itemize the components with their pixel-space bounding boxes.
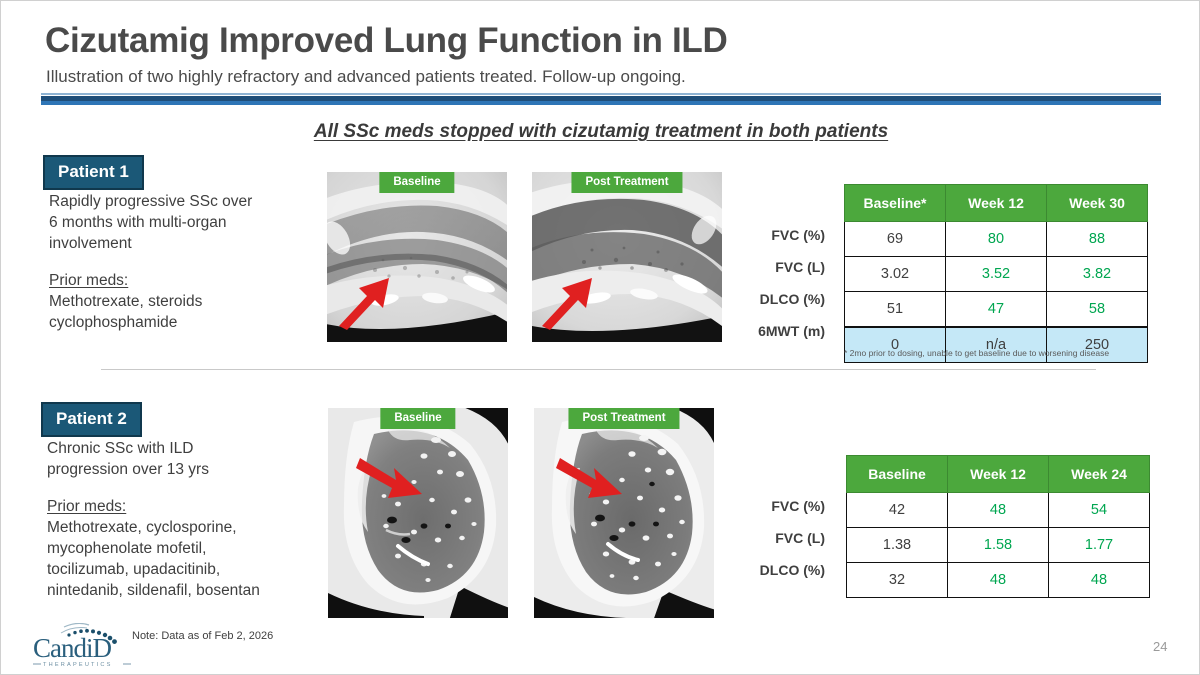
cell-dlco-baseline: 32: [847, 563, 948, 598]
cell-fvc-pct-week30: 88: [1047, 222, 1148, 257]
table-row: 51 47 58: [845, 292, 1148, 328]
col-header-week-24: Week 24: [1049, 456, 1150, 493]
patient-1-desc-line-2: 6 months with multi-organ: [49, 212, 319, 233]
page-number: 24: [1153, 639, 1167, 654]
cell-fvc-l-week30: 3.82: [1047, 257, 1148, 292]
col-header-week-12: Week 12: [948, 456, 1049, 493]
patient-1-row-labels: FVC (%) FVC (L) DLCO (%) 6MWT (m): [741, 219, 825, 347]
patient-2-prior-meds-line-1: Methotrexate, cyclosporine,: [47, 517, 317, 538]
svg-text:THERAPEUTICS: THERAPEUTICS: [43, 662, 113, 668]
spacer: [49, 254, 319, 270]
cell-dlco-week12: 48: [948, 563, 1049, 598]
patient-2-prior-meds-line-2: mycophenolate mofetil,: [47, 538, 317, 559]
col-header-baseline: Baseline: [847, 456, 948, 493]
accent-line-light: [41, 93, 1161, 95]
row-label-fvc-pct: FVC (%): [741, 490, 825, 522]
cell-fvc-l-week12: 1.58: [948, 528, 1049, 563]
patient-1-badge: Patient 1: [43, 155, 144, 190]
patient-2-desc-line-1: Chronic SSc with ILD: [47, 438, 317, 459]
row-label-fvc-pct: FVC (%): [741, 219, 825, 251]
cell-dlco-week24: 48: [1049, 563, 1150, 598]
cell-fvc-l-week24: 1.77: [1049, 528, 1150, 563]
svg-text:CandiD: CandiD: [33, 633, 111, 663]
ct-image: [534, 408, 714, 618]
scan-label-post-treatment: Post Treatment: [571, 172, 682, 193]
cell-fvc-pct-baseline: 69: [845, 222, 946, 257]
cell-dlco-week30: 58: [1047, 292, 1148, 328]
results-table: Baseline Week 12 Week 24 42 48 54 1.38 1…: [846, 455, 1150, 598]
patient-1-results-table: Baseline* Week 12 Week 30 69 80 88 3.02 …: [844, 184, 1148, 363]
col-header-week-30: Week 30: [1047, 185, 1148, 222]
scan-label-post-treatment: Post Treatment: [568, 408, 679, 429]
patient-1-footnote: * 2mo prior to dosing, unable to get bas…: [844, 348, 1109, 358]
accent-line-mid: [41, 101, 1161, 105]
data-note: Note: Data as of Feb 2, 2026: [132, 630, 273, 642]
cell-fvc-l-baseline: 3.02: [845, 257, 946, 292]
page-title: Cizutamig Improved Lung Function in ILD: [45, 21, 727, 61]
table-row: 1.38 1.58 1.77: [847, 528, 1150, 563]
cell-fvc-l-week12: 3.52: [946, 257, 1047, 292]
patient-2-desc-line-2: progression over 13 yrs: [47, 459, 317, 480]
patient-1-desc-line-3: involvement: [49, 233, 319, 254]
table-row: 42 48 54: [847, 493, 1150, 528]
patient-1-desc-line-1: Rapidly progressive SSc over: [49, 191, 319, 212]
cell-fvc-pct-week12: 48: [948, 493, 1049, 528]
row-label-dlco-pct: DLCO (%): [741, 554, 825, 586]
col-header-week-12: Week 12: [946, 185, 1047, 222]
spacer: [47, 480, 317, 496]
cell-fvc-pct-baseline: 42: [847, 493, 948, 528]
row-label-6mwt-m: 6MWT (m): [741, 315, 825, 347]
patient-1-ct-scan-baseline: Baseline: [327, 172, 507, 342]
row-label-fvc-l: FVC (L): [741, 522, 825, 554]
patient-2-row-labels: FVC (%) FVC (L) DLCO (%): [741, 490, 825, 586]
annotation-arrow-icon: [333, 270, 405, 337]
patient-2-results-table: Baseline Week 12 Week 24 42 48 54 1.38 1…: [846, 455, 1150, 598]
patient-2-badge: Patient 2: [41, 402, 142, 437]
annotation-arrow-icon: [536, 270, 608, 337]
key-message-banner: All SSc meds stopped with cizutamig trea…: [1, 121, 1200, 143]
table-header-row: Baseline Week 12 Week 24: [847, 456, 1150, 493]
patient-2-prior-meds-line-3: tocilizumab, upadacitinib,: [47, 559, 317, 580]
header-accent-bar: [41, 93, 1161, 105]
table-row: 69 80 88: [845, 222, 1148, 257]
patient-2-prior-meds-line-4: nintedanib, sildenafil, bosentan: [47, 580, 317, 601]
cell-fvc-l-baseline: 1.38: [847, 528, 948, 563]
annotation-arrow-icon: [556, 452, 632, 511]
cell-dlco-week12: 47: [946, 292, 1047, 328]
col-header-baseline: Baseline*: [845, 185, 946, 222]
cell-fvc-pct-week24: 54: [1049, 493, 1150, 528]
patient-1-prior-meds-line-2: cyclophosphamide: [49, 312, 319, 333]
patient-2-description: Chronic SSc with ILD progression over 13…: [47, 438, 317, 601]
patient-2-ct-scan-baseline: Baseline: [328, 408, 508, 618]
patient-1-prior-meds-label: Prior meds:: [49, 270, 319, 291]
table-row: 3.02 3.52 3.82: [845, 257, 1148, 292]
section-divider: [101, 369, 1096, 370]
ct-image: [328, 408, 508, 618]
page-subtitle: Illustration of two highly refractory an…: [46, 67, 686, 87]
patient-1-ct-scan-post: Post Treatment: [532, 172, 722, 342]
company-logo: CandiD THERAPEUTICS: [31, 623, 135, 669]
patient-1-prior-meds-line-1: Methotrexate, steroids: [49, 291, 319, 312]
annotation-arrow-icon: [356, 452, 432, 511]
slide: Cizutamig Improved Lung Function in ILD …: [0, 0, 1200, 675]
row-label-dlco-pct: DLCO (%): [741, 283, 825, 315]
table-row: 32 48 48: [847, 563, 1150, 598]
table-header-row: Baseline* Week 12 Week 30: [845, 185, 1148, 222]
scan-label-baseline: Baseline: [379, 172, 454, 193]
results-table: Baseline* Week 12 Week 30 69 80 88 3.02 …: [844, 184, 1148, 363]
cell-dlco-baseline: 51: [845, 292, 946, 328]
patient-1-description: Rapidly progressive SSc over 6 months wi…: [49, 191, 319, 333]
cell-fvc-pct-week12: 80: [946, 222, 1047, 257]
scan-label-baseline: Baseline: [380, 408, 455, 429]
patient-2-ct-scan-post: Post Treatment: [534, 408, 714, 618]
row-label-fvc-l: FVC (L): [741, 251, 825, 283]
patient-2-prior-meds-label: Prior meds:: [47, 496, 317, 517]
